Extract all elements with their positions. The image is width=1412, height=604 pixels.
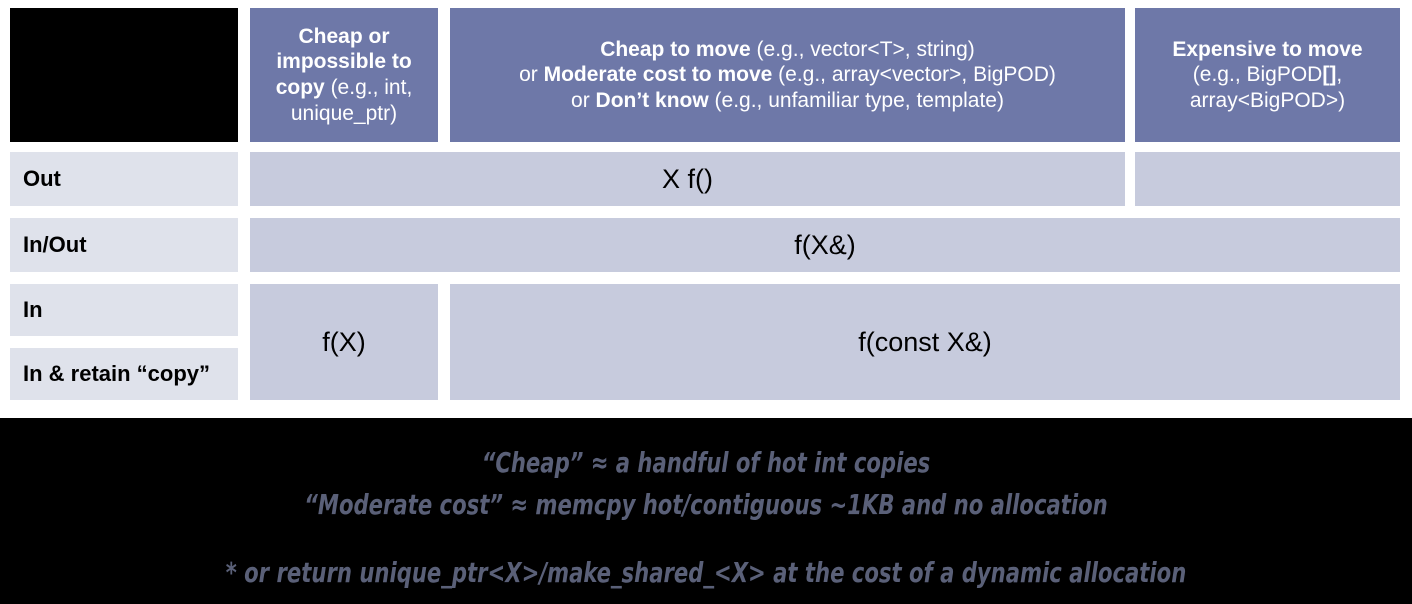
cell-in-out-signature: f(X&) bbox=[250, 218, 1400, 272]
header-2-line2-bold: Moderate cost to move bbox=[544, 63, 773, 86]
row-label-in-out: In/Out bbox=[10, 218, 238, 272]
header-3-line1: Expensive to move bbox=[1172, 38, 1362, 61]
footer-note-cheap: “Cheap” ≈ a handful of hot int copies bbox=[113, 446, 1299, 479]
column-header-cheap-moderate-or-dont-know: Cheap to move (e.g., vector<T>, string) … bbox=[450, 8, 1125, 142]
cell-out-expensive-blank bbox=[1135, 152, 1400, 206]
header-1-line1: Cheap or bbox=[298, 25, 389, 48]
row-label-out: Out bbox=[10, 152, 238, 206]
header-2-line2-plain: (e.g., array<vector>, BigPOD) bbox=[772, 63, 1056, 86]
header-2-line1-bold: Cheap to move bbox=[600, 38, 751, 61]
header-2-line1-plain: (e.g., vector<T>, string) bbox=[751, 38, 975, 61]
footer-note-return-smart-pointer: * or return unique_ptr<X>/make_shared_<X… bbox=[113, 556, 1299, 589]
header-3-line2-tail: , bbox=[1336, 63, 1342, 86]
header-2-line3-bold: Don’t know bbox=[596, 89, 709, 112]
row-label-in-retain-copy: In & retain “copy” bbox=[10, 348, 238, 400]
slide-canvas: Cheap or impossible to copy (e.g., int, … bbox=[0, 0, 1412, 604]
footer-note-moderate-cost: “Moderate cost” ≈ memcpy hot/contiguous … bbox=[113, 488, 1299, 521]
row-label-in: In bbox=[10, 284, 238, 336]
column-header-cheap-or-impossible-to-copy: Cheap or impossible to copy (e.g., int, … bbox=[250, 8, 438, 142]
header-3-line3: array<BigPOD>) bbox=[1190, 89, 1345, 112]
table-corner-cell bbox=[10, 8, 238, 142]
header-1-line2: impossible to bbox=[276, 50, 411, 73]
header-1-line3-plain: (e.g., int, bbox=[325, 76, 413, 99]
header-3-line2-bold: [] bbox=[1322, 63, 1336, 86]
parameter-passing-table: Cheap or impossible to copy (e.g., int, … bbox=[0, 0, 1412, 418]
cell-out-signature: X f() bbox=[250, 152, 1125, 206]
footer-notes: “Cheap” ≈ a handful of hot int copies “M… bbox=[0, 418, 1412, 604]
header-3-line2-plain: (e.g., BigPOD bbox=[1193, 63, 1323, 86]
header-2-line2-pre: or bbox=[519, 63, 544, 86]
header-2-line3-pre: or bbox=[571, 89, 596, 112]
header-1-line4: unique_ptr) bbox=[291, 102, 397, 125]
cell-in-const-ref-signature: f(const X&) bbox=[450, 284, 1400, 400]
header-2-line3-plain: (e.g., unfamiliar type, template) bbox=[709, 89, 1004, 112]
cell-in-by-value-signature: f(X) bbox=[250, 284, 438, 400]
column-header-expensive-to-move: Expensive to move (e.g., BigPOD[], array… bbox=[1135, 8, 1400, 142]
header-1-line3-bold: copy bbox=[276, 76, 325, 99]
